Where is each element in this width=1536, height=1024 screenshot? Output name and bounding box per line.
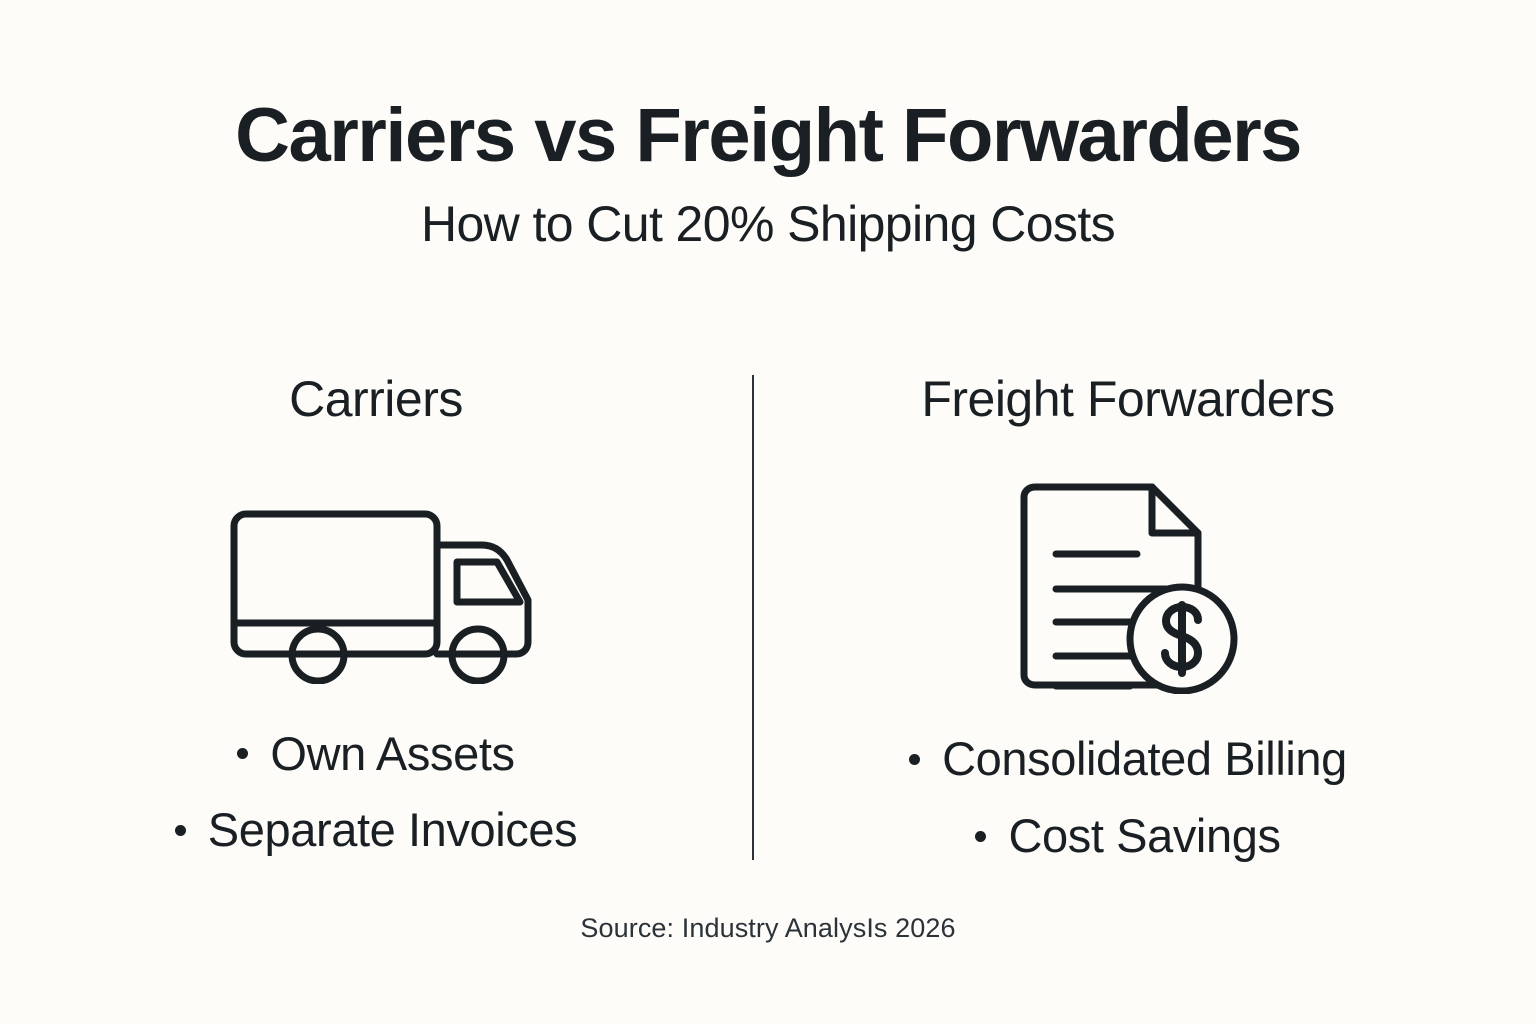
invoice-document-dollar-icon <box>1006 479 1251 694</box>
bullet-label: Cost Savings <box>1008 811 1280 862</box>
bullet-dot-icon <box>909 754 920 765</box>
bullet-dot-icon <box>975 831 986 842</box>
column-freight-forwarders: Freight Forwarders <box>752 372 1504 872</box>
list-item: Separate Invoices <box>175 805 577 856</box>
delivery-truck-icon <box>220 479 532 689</box>
bullet-dot-icon <box>237 748 248 759</box>
page-title: Carriers vs Freight Forwarders <box>0 96 1536 175</box>
page-subtitle: How to Cut 20% Shipping Costs <box>0 197 1536 252</box>
bullet-list-carriers: Own Assets Separate Invoices <box>175 729 577 857</box>
column-heading-carriers: Carriers <box>289 372 463 427</box>
list-item: Consolidated Billing <box>909 734 1347 785</box>
bullet-list-freight-forwarders: Consolidated Billing Cost Savings <box>909 734 1347 862</box>
source-note: Source: Industry AnalysIs 2026 <box>0 913 1536 944</box>
bullet-label: Consolidated Billing <box>942 734 1347 785</box>
column-heading-freight-forwarders: Freight Forwarders <box>921 372 1334 427</box>
bullet-label: Own Assets <box>270 729 514 780</box>
column-carriers: Carriers <box>0 372 752 872</box>
bullet-label: Separate Invoices <box>208 805 577 856</box>
list-item: Cost Savings <box>975 811 1280 862</box>
bullet-dot-icon <box>175 825 186 836</box>
comparison-columns: Carriers <box>0 372 1536 872</box>
list-item: Own Assets <box>237 729 514 780</box>
header: Carriers vs Freight Forwarders How to Cu… <box>0 96 1536 252</box>
infographic-slide: Carriers vs Freight Forwarders How to Cu… <box>0 0 1536 1024</box>
